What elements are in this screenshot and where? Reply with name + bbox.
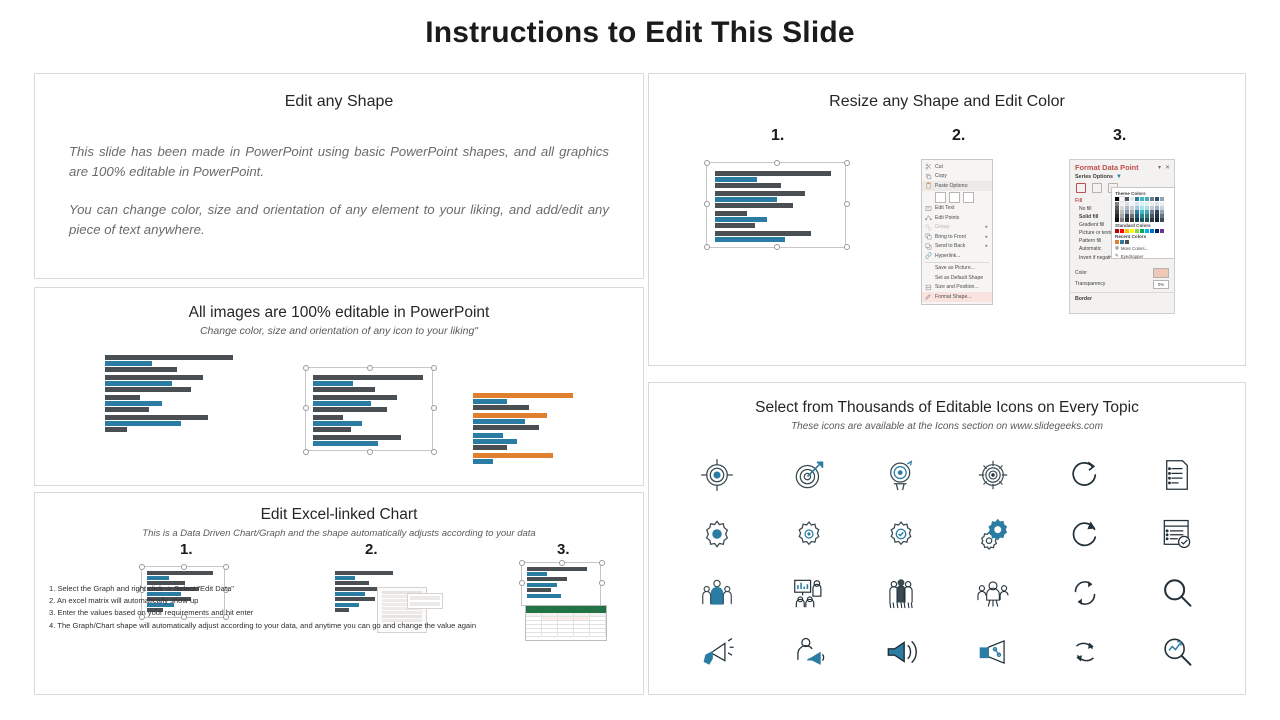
transparency-row[interactable]: Transparency 0% [1075, 280, 1169, 289]
excel-instruction-1: 1. Select the Graph and right click -> S… [49, 583, 476, 595]
paste-option-keep-formatting[interactable] [935, 192, 946, 203]
edit-shape-paragraph-2: You can change color, size and orientati… [69, 200, 609, 241]
context-menu-item-size-and-position[interactable]: Size and Position... [922, 283, 992, 293]
team-meeting-icon[interactable] [972, 572, 1014, 614]
resize-step-number-2: 2. [952, 127, 965, 145]
gear-check-icon[interactable] [880, 513, 922, 555]
copy-icon [925, 173, 932, 180]
format-pane-titlebar: Format Data Point ▾ ✕ [1070, 160, 1174, 174]
paste-option-keep-text[interactable] [963, 192, 974, 203]
excel-instructions-list: 1. Select the Graph and right click -> S… [49, 583, 476, 632]
powerpoint-context-menu[interactable]: Cut Copy Paste Options: [921, 159, 993, 305]
chevron-right-icon: ▸ [985, 224, 988, 230]
excel-instruction-3: 3. Enter the values based on your requir… [49, 607, 476, 619]
context-menu-item-bring-to-front[interactable]: Bring to Front ▸ [922, 232, 992, 242]
panel-resize-edit-color: Resize any Shape and Edit Color 1. 2. 3. [648, 73, 1246, 366]
recent-colors-label: Recent Colors [1115, 233, 1171, 240]
paste-icon [925, 182, 932, 189]
megaphone-icon[interactable] [696, 631, 738, 673]
mini-bar-chart-1 [105, 355, 245, 427]
slide-canvas: Instructions to Edit This Slide Edit any… [0, 0, 1280, 720]
scissors-icon [925, 163, 932, 170]
context-menu-item-edit-text[interactable]: Edit Text [922, 204, 992, 214]
team-icon[interactable] [880, 572, 922, 614]
edit-shape-paragraph-1: This slide has been made in PowerPoint u… [69, 142, 609, 183]
gears-pair-icon[interactable] [972, 513, 1014, 555]
color-label: Color [1075, 270, 1087, 276]
send-back-icon [925, 243, 932, 250]
panel-subtitle-images: Change color, size and orientation of an… [35, 325, 643, 337]
panel-subtitle-icons: These icons are available at the Icons s… [649, 421, 1245, 432]
transparency-value[interactable]: 0% [1153, 280, 1169, 289]
resize-step-number-1: 1. [771, 127, 784, 145]
close-icon[interactable]: ✕ [1165, 164, 1170, 171]
hyperlink-icon [925, 252, 932, 259]
context-menu-item-save-as-picture[interactable]: Save as Picture... [922, 264, 992, 274]
panel-title-images: All images are 100% editable in PowerPoi… [35, 304, 643, 322]
paste-option-picture[interactable] [949, 192, 960, 203]
context-menu-item-group: Group ▸ [922, 223, 992, 233]
excel-step-number-2: 2. [365, 541, 378, 558]
tab-effects[interactable] [1092, 183, 1102, 193]
speaker-icon[interactable] [880, 631, 922, 673]
color-swatch-button[interactable] [1153, 268, 1169, 278]
excel-steps-row: 1. 2. 3. [35, 543, 643, 638]
palette-icon: ◍ [1115, 245, 1119, 251]
standard-colors-label: Standard Colors [1115, 222, 1171, 229]
excel-step3-chart[interactable] [527, 567, 593, 601]
eyedropper-icon: ✎ [1115, 253, 1119, 259]
chevron-right-icon: ▸ [985, 243, 988, 249]
context-menu-item-send-to-back[interactable]: Send to Back ▸ [922, 242, 992, 252]
checklist-document-icon[interactable] [1156, 513, 1198, 555]
excel-instruction-2: 2. An excel matrix will automatically sh… [49, 595, 476, 607]
page-title: Instructions to Edit This Slide [0, 16, 1280, 50]
panel-title-excel: Edit Excel-linked Chart [35, 506, 643, 524]
cycle-arrows-icon[interactable] [1064, 631, 1106, 673]
panel-subtitle-excel: This is a Data Driven Chart/Graph and th… [35, 528, 643, 539]
resize-step-number-3: 3. [1113, 127, 1126, 145]
excel-sheet-titlebar [526, 606, 606, 613]
crosshair-icon[interactable] [972, 454, 1014, 496]
refresh-circle-icon[interactable] [1064, 513, 1106, 555]
theme-colors-label: Theme Colors [1115, 190, 1171, 197]
panel-title-resize: Resize any Shape and Edit Color [649, 93, 1245, 111]
sync-arrows-icon[interactable] [1064, 572, 1106, 614]
discount-megaphone-icon[interactable] [972, 631, 1014, 673]
panel-title-edit-shape: Edit any Shape [35, 93, 643, 111]
group-icon [925, 224, 932, 231]
context-menu-item-copy[interactable]: Copy [922, 172, 992, 182]
excel-instruction-4: 4. The Graph/Chart shape will automatica… [49, 620, 476, 632]
chevron-down-icon: ▼ [1116, 174, 1122, 180]
standard-colors-row[interactable] [1115, 229, 1171, 233]
excel-data-sheet[interactable] [525, 605, 607, 641]
transparency-label: Transparency [1075, 281, 1105, 287]
chevron-right-icon: ▸ [985, 234, 988, 240]
mini-charts-row [35, 345, 643, 465]
context-menu-item-set-default-shape[interactable]: Set as Default Shape [922, 273, 992, 283]
context-menu-item-edit-points[interactable]: Edit Points [922, 213, 992, 223]
gear-center-icon[interactable] [788, 513, 830, 555]
mini-bar-chart-3 [473, 393, 583, 457]
target-stand-icon[interactable] [880, 454, 922, 496]
magnifier-icon[interactable] [1156, 572, 1198, 614]
panel-title-icons: Select from Thousands of Editable Icons … [649, 399, 1245, 417]
person-megaphone-icon[interactable] [788, 631, 830, 673]
format-shape-icon [925, 293, 932, 300]
document-list-icon[interactable] [1156, 454, 1198, 496]
panel-images-editable: All images are 100% editable in PowerPoi… [34, 287, 644, 486]
paste-option-buttons[interactable] [922, 191, 992, 204]
icon-grid [671, 445, 1223, 681]
dartboard-arrow-icon[interactable] [788, 454, 830, 496]
size-position-icon [925, 284, 932, 291]
target-crosshair-icon[interactable] [696, 454, 738, 496]
panel-edit-any-shape: Edit any Shape This slide has been made … [34, 73, 644, 279]
color-picker-flyout[interactable]: Theme Colors [1111, 187, 1175, 259]
gear-filled-icon[interactable] [696, 513, 738, 555]
edit-text-icon [925, 205, 932, 212]
context-menu-item-paste-options[interactable]: Paste Options: [922, 181, 992, 191]
more-colors-item[interactable]: ◍ More Colors... [1115, 244, 1171, 252]
resize-steps-row: 1. 2. 3. [649, 119, 1245, 329]
theme-colors-shades[interactable] [1115, 202, 1171, 222]
tab-fill-line[interactable] [1076, 183, 1086, 193]
color-row[interactable]: Color [1075, 268, 1169, 278]
excel-step-number-3: 3. [557, 541, 570, 558]
panel-editable-icons: Select from Thousands of Editable Icons … [648, 382, 1246, 695]
border-section-header[interactable]: Border [1070, 292, 1174, 302]
presentation-people-icon[interactable] [788, 572, 830, 614]
context-menu-item-cut[interactable]: Cut [922, 162, 992, 172]
context-menu-item-format-shape[interactable]: Format Shape... [922, 292, 992, 302]
people-group-icon[interactable] [696, 572, 738, 614]
panel-excel-linked-chart: Edit Excel-linked Chart This is a Data D… [34, 492, 644, 695]
menu-divider [925, 262, 989, 263]
bring-front-icon [925, 233, 932, 240]
excel-step-number-1: 1. [180, 541, 193, 558]
format-pane-title: Format Data Point [1075, 163, 1139, 172]
chevron-down-icon[interactable]: ▾ [1158, 164, 1161, 171]
context-menu-item-hyperlink[interactable]: Hyperlink... [922, 251, 992, 261]
resize-step1-chart[interactable] [715, 171, 837, 239]
edit-points-icon [925, 214, 932, 221]
eyedropper-item[interactable]: ✎ Eyedropper [1115, 252, 1171, 260]
theme-colors-top-row[interactable] [1115, 197, 1171, 201]
analytics-magnifier-icon[interactable] [1156, 631, 1198, 673]
refresh-arrow-icon[interactable] [1064, 454, 1106, 496]
mini-bar-chart-2[interactable] [313, 375, 433, 443]
